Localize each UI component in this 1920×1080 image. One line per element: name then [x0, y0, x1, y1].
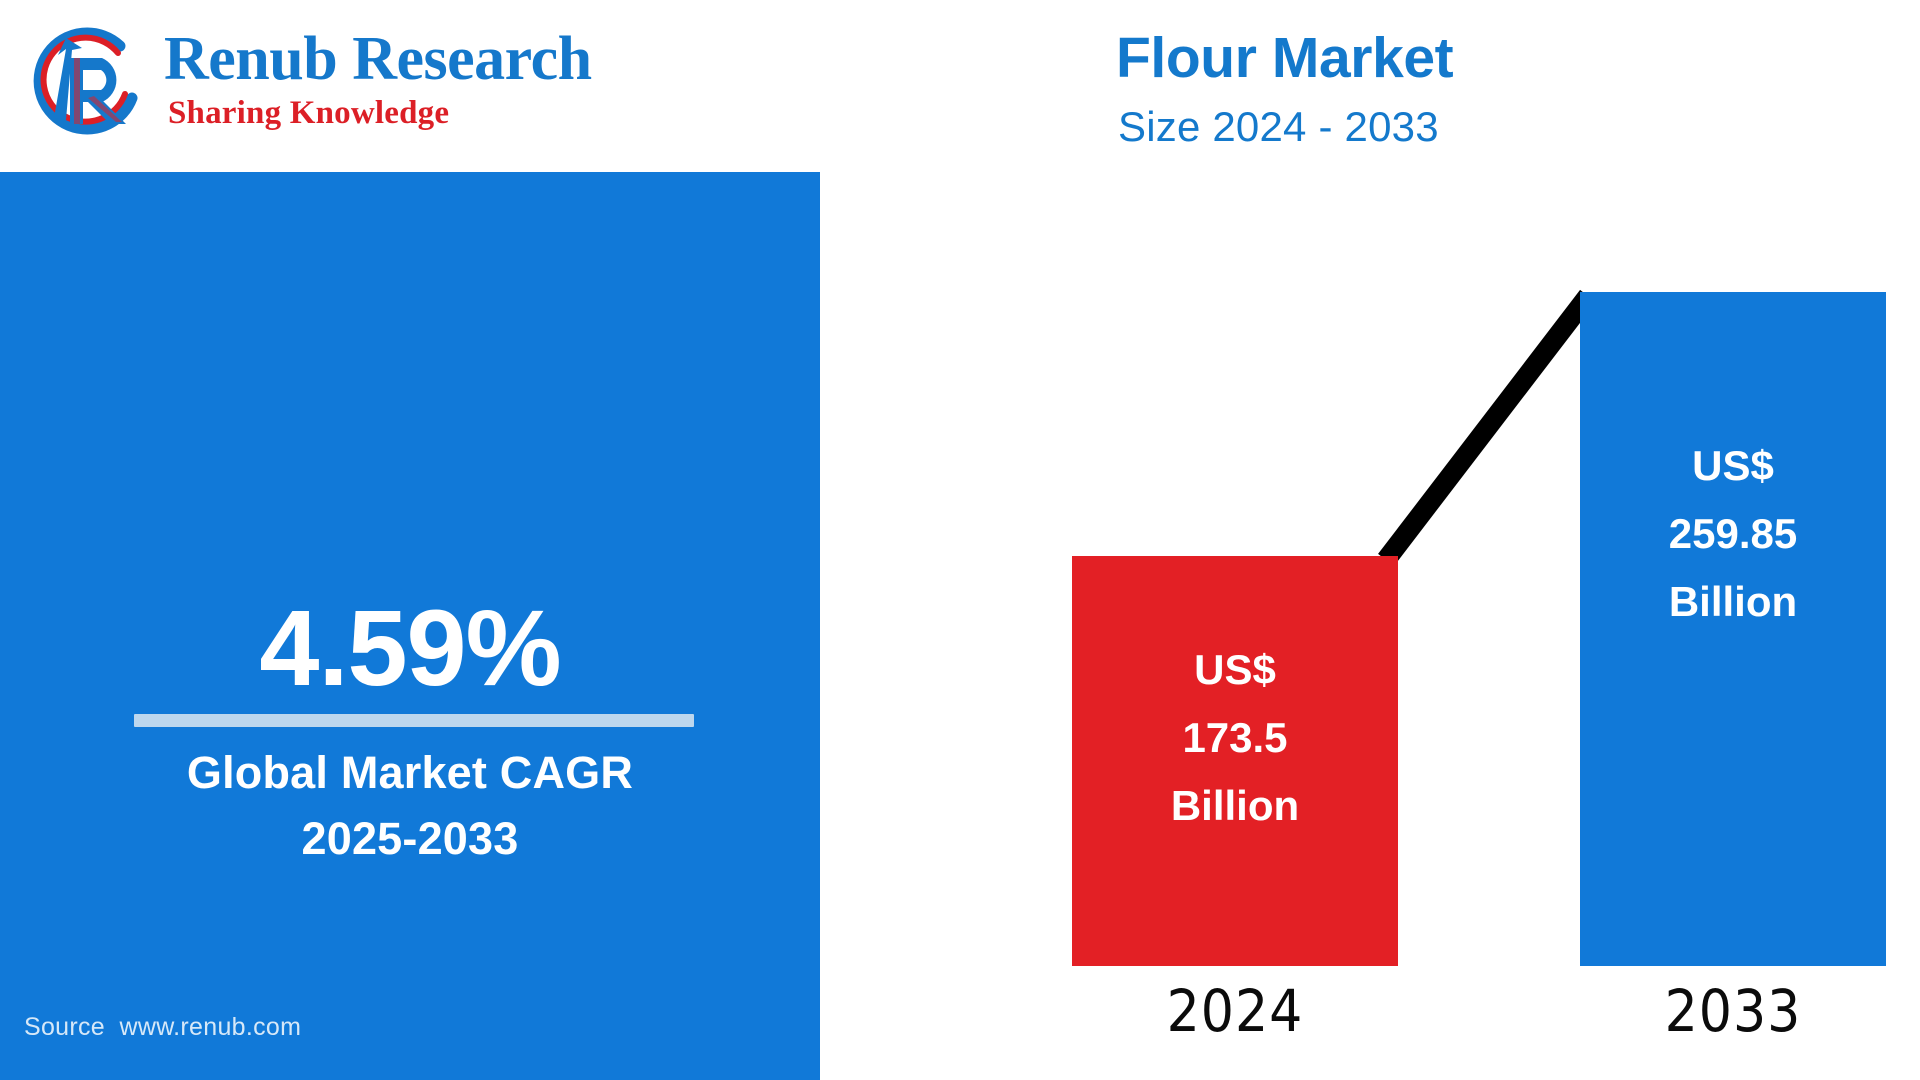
brand-logo: Renub Research Sharing Knowledge	[22, 12, 662, 142]
x-axis-label-2024: 2024	[1072, 978, 1398, 1044]
bar-2024-value-label: US$ 173.5 Billion	[1171, 636, 1299, 840]
infographic-root: Renub Research Sharing Knowledge 4.59% G…	[0, 0, 1920, 1080]
bar-2024-scale: Billion	[1171, 772, 1299, 840]
cagr-divider	[134, 714, 694, 727]
cagr-caption: Global Market CAGR 2025-2033	[0, 740, 820, 872]
renub-r-arrow-logo-icon	[22, 22, 158, 146]
chart-area: Flour Market Size 2024 - 2033 US$ 173.5 …	[820, 0, 1920, 1080]
bar-chart-plot: US$ 173.5 Billion US$ 259.85 Billion 202…	[820, 0, 1920, 1080]
x-axis-label-2033: 2033	[1580, 978, 1886, 1044]
bar-2033-currency: US$	[1669, 432, 1797, 500]
cagr-caption-line-2: 2025-2033	[0, 806, 820, 872]
brand-name: Renub Research	[164, 26, 654, 92]
cagr-value: 4.59%	[0, 592, 820, 704]
bar-2024-currency: US$	[1171, 636, 1299, 704]
bar-2033-scale: Billion	[1669, 568, 1797, 636]
cagr-panel: 4.59% Global Market CAGR 2025-2033 Sourc…	[0, 172, 820, 1080]
source-text: Source www.renub.com	[24, 1012, 301, 1042]
bar-2033-value-label: US$ 259.85 Billion	[1669, 432, 1797, 636]
bar-2024-number: 173.5	[1171, 704, 1299, 772]
bar-2024[interactable]: US$ 173.5 Billion	[1072, 556, 1398, 966]
bar-2033[interactable]: US$ 259.85 Billion	[1580, 292, 1886, 966]
cagr-caption-line-1: Global Market CAGR	[0, 740, 820, 806]
bar-2033-number: 259.85	[1669, 500, 1797, 568]
brand-wordmark: Renub Research Sharing Knowledge	[164, 26, 654, 142]
brand-tagline: Sharing Knowledge	[168, 94, 654, 132]
